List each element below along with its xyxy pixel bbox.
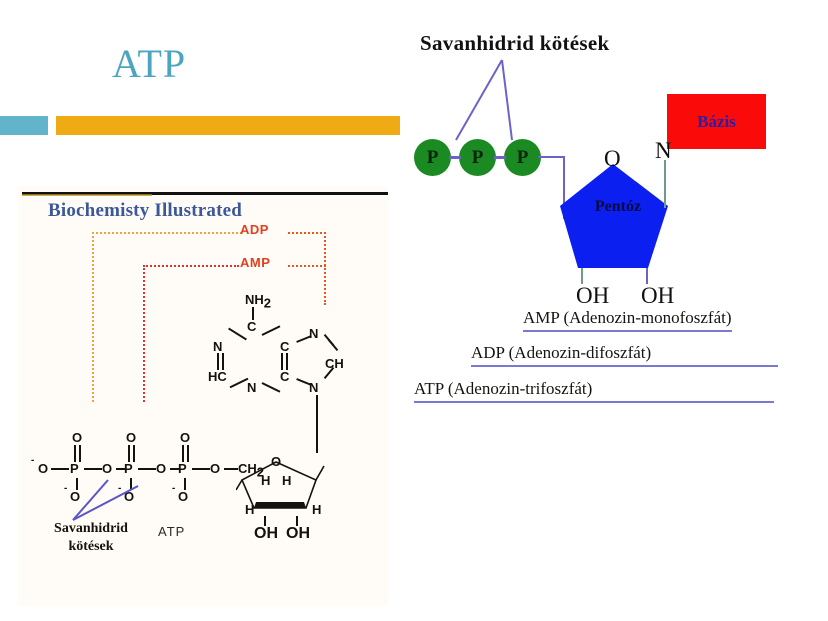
adenine-amine-subscript: 2 [264,296,271,311]
phosphate-dbond-3a [182,445,184,462]
base-box: Bázis [667,94,766,149]
figure-top-rule-accent [22,194,152,196]
adp-bracket-label: ADP [240,222,269,237]
adenine-n-right-top: N [309,327,318,340]
phosphate-dbond-2b [133,445,135,462]
savanhidrid-annotation-label: Savanhidrid kötések [36,520,146,555]
amp-bracket-top-left [143,265,239,267]
phosphate-circle-2: P [459,139,496,176]
pentose-label: Pentóz [586,198,650,216]
pentose-hydroxyl-left: OH [576,283,609,309]
nucleotide-label-amp: AMP (Adenozin-monofoszfát) [523,308,732,332]
title-accent-bar-teal [0,116,48,135]
base-box-label: Bázis [697,112,736,132]
phosphate-o-double-3: O [180,431,190,444]
nucleotide-label-adp: ADP (Adenozin-difoszfát) [471,343,778,367]
adenine-c-fused-bottom: C [280,370,289,383]
atp-molecule-label: ATP [158,524,185,539]
phosphate-bond-p3-o [192,468,210,470]
adenine-hc-left: HC [208,370,227,383]
adenine-bond-glycosidic [316,395,318,453]
title-accent-bar-orange [56,116,400,135]
phosphate-link-1 [449,156,461,159]
adenine-amine-label: NH2 [245,293,271,310]
pentose-hydroxyl-right: OH [641,283,674,309]
savanhidrid-annotation-line1: Savanhidrid [54,521,128,536]
phosphate-dbond-1a [74,445,76,462]
adp-bracket-top-left [92,232,242,234]
amp-bracket-top-right [288,265,326,267]
amp-bracket-label: AMP [240,255,270,270]
phosphate-dbond-3b [187,445,189,462]
phosphate-circle-3: P [504,139,541,176]
phosphate-circle-1: P [414,139,451,176]
ribose-ring-skeleton [236,452,332,514]
adenine-c-fused-top: C [280,340,289,353]
anhydride-bond-pointer-lines [448,58,518,142]
adenine-amine-text: NH [245,292,264,307]
phosphate-o-double-2: O [126,431,136,444]
pentose-base-bond [664,160,666,208]
adenine-bond-fused-b [286,353,288,370]
phosphate-o-bridge-3: O [210,462,220,475]
savanhidrid-annotation-line2: kötések [68,539,113,554]
ribose-oh-right: OH [286,526,310,542]
phosphate-charge-left: - [31,456,34,466]
adenine-n-bottom: N [247,381,256,394]
phosphate-o-double-1: O [72,431,82,444]
adenine-bond-fused-a [281,353,283,370]
adenine-bond-n-hc-a [217,353,219,370]
phosphate-o-terminal-left: O [38,462,48,475]
adp-bracket-left [92,232,94,402]
amp-bracket-left [143,265,145,402]
figure-source-caption: Biochemisty Illustrated [48,200,242,222]
pentose-ring-oxygen: O [604,146,621,172]
phosphate-link-2 [494,156,506,159]
adenine-bond-n-hc-b [222,353,224,370]
adp-bracket-top-right [288,232,326,234]
pentose-oh-left-bond [581,268,583,284]
amp-bracket-right [324,265,326,305]
pentose-oh-right-bond [646,268,648,284]
adenine-n-left: N [213,340,222,353]
page-title: ATP [112,44,186,84]
phosphate-dbond-2a [128,445,130,462]
pentose-pentagon [560,160,680,272]
ribose-oh-left: OH [254,526,278,542]
diagram-title: Savanhidrid kötések [420,31,610,56]
adenine-c-top: C [247,320,256,333]
phosphate-dbond-1b [79,445,81,462]
nucleotide-label-atp: ATP (Adenozin-trifoszfát) [414,379,774,403]
